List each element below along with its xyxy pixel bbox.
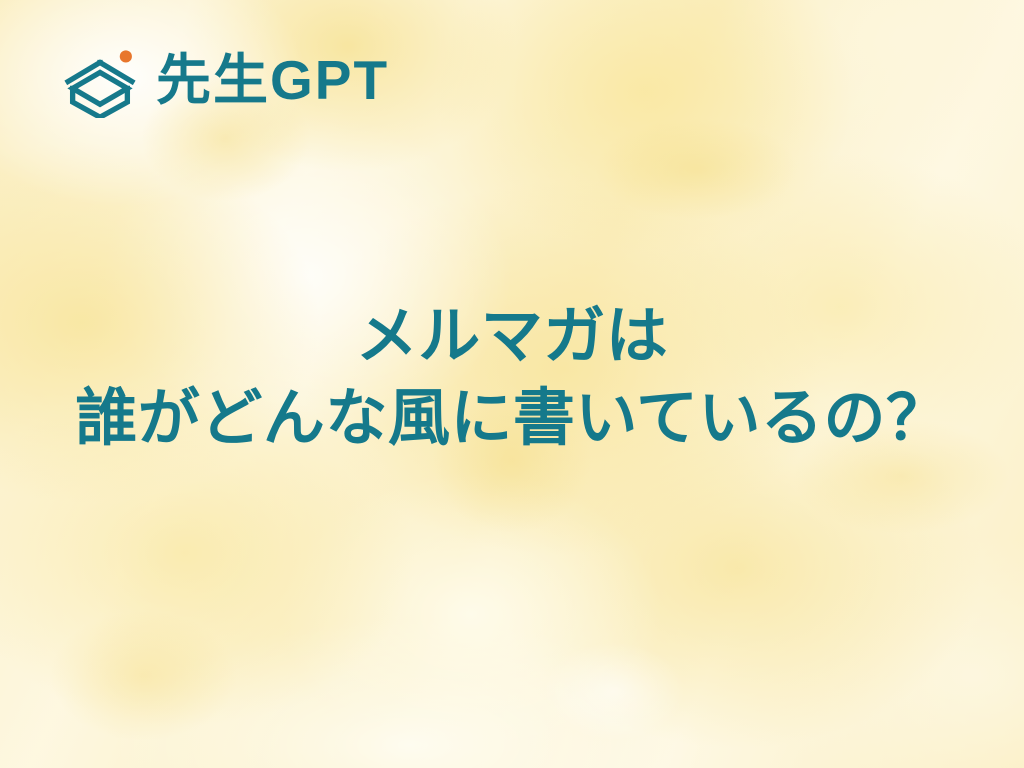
slide-canvas: 先生GPT メルマガは 誰がどんな風に書いているの？ [0,0,1024,768]
graduation-cap-hexagon-icon [62,42,138,118]
page-title-line-2: 誰がどんな風に書いているの？ [0,378,1024,460]
brand-name: 先生GPT [156,53,389,108]
page-title: メルマガは 誰がどんな風に書いているの？ [0,296,1024,460]
page-title-line-1: メルマガは [0,296,1024,378]
accent-dot-icon [120,50,132,62]
brand-logo: 先生GPT [62,42,389,118]
